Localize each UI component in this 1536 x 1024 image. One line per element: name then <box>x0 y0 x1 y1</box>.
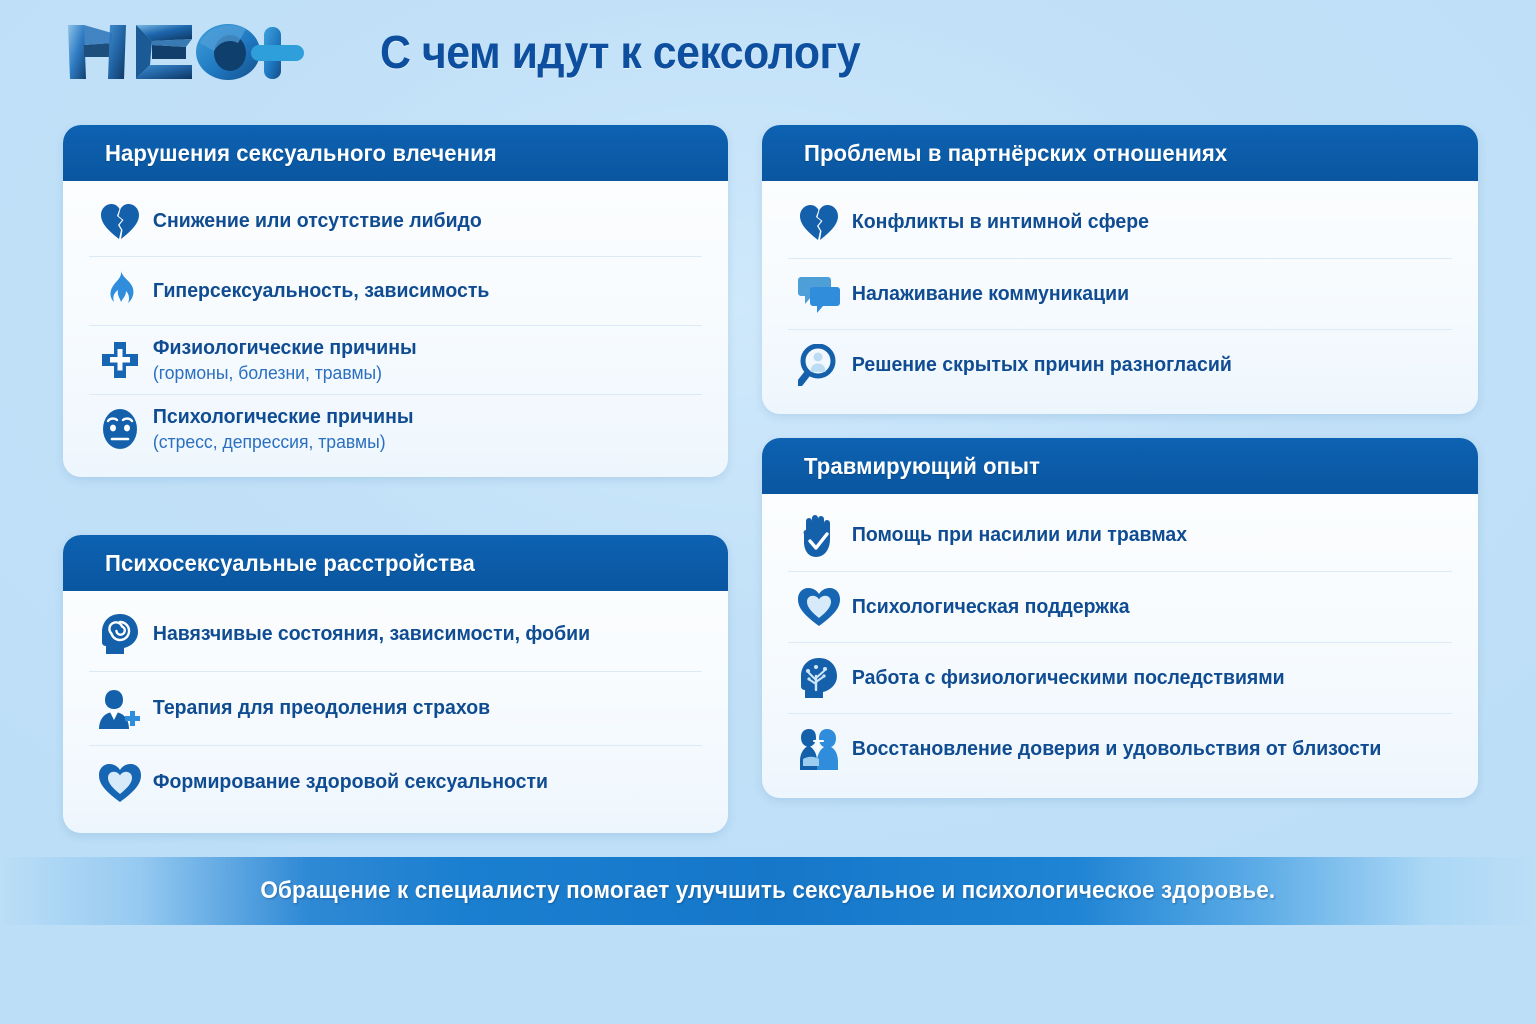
card-desire-body: Снижение или отсутствие либидо Гиперсекс… <box>63 181 728 477</box>
list-item[interactable]: Конфликты в интимной сфере <box>788 187 1452 258</box>
card-partnership-header: Проблемы в партнёрских отношениях <box>762 125 1478 181</box>
broken-heart-icon <box>89 196 151 248</box>
list-item[interactable]: Налаживание коммуникации <box>788 258 1452 329</box>
list-item-label: Работа с физиологическими последствиями <box>850 666 1285 690</box>
list-item-label: Помощь при насилии или травмах <box>850 523 1187 547</box>
list-item-label: Психологическая поддержка <box>850 595 1130 619</box>
list-item-text: Налаживание коммуникации <box>852 282 1129 305</box>
card-psychosexual-body: Навязчивые состояния, зависимости, фобии… <box>63 591 728 833</box>
footer-banner: Обращение к специалисту помогает улучшит… <box>0 857 1536 925</box>
list-item[interactable]: Восстановление доверия и удовольствия от… <box>788 713 1452 784</box>
sad-face-icon <box>89 403 151 455</box>
list-item-text: Навязчивые состояния, зависимости, фобии <box>153 622 590 645</box>
card-psychosexual-title: Психосексуальные расстройства <box>105 550 475 577</box>
brand-logo <box>60 16 320 88</box>
list-item[interactable]: Работа с физиологическими последствиями <box>788 642 1452 713</box>
list-item[interactable]: Снижение или отсутствие либидо <box>89 187 702 256</box>
open-hand-icon <box>788 510 850 562</box>
list-item-subtext: (стресс, депрессия, травмы) <box>153 431 414 453</box>
neo-plus-logo-icon <box>60 17 310 87</box>
list-item-label: Гиперсексуальность, зависимость <box>151 279 489 303</box>
list-item-label: Налаживание коммуникации <box>850 282 1129 306</box>
list-item-label: Физиологические причины (гормоны, болезн… <box>151 336 417 384</box>
card-trauma-body: Помощь при насилии или травмах Психологи… <box>762 494 1478 798</box>
list-item[interactable]: Психологические причины (стресс, депресс… <box>89 394 702 463</box>
list-item-label: Конфликты в интимной сфере <box>850 210 1149 234</box>
heart-icon <box>788 581 850 633</box>
card-trauma: Травмирующий опыт Помощь при насилии или… <box>762 438 1478 798</box>
list-item-text: Формирование здоровой сексуальности <box>153 770 548 793</box>
person-plus-icon <box>89 683 151 735</box>
list-item-label: Восстановление доверия и удовольствия от… <box>850 737 1381 761</box>
list-item-label: Навязчивые состояния, зависимости, фобии <box>151 622 590 646</box>
page-title: С чем идут к сексологу <box>380 25 1031 79</box>
list-item-text: Решение скрытых причин разногласий <box>852 353 1232 376</box>
footer-message: Обращение к специалисту помогает улучшит… <box>261 877 1276 905</box>
head-spiral-icon <box>89 608 151 660</box>
card-partnership-body: Конфликты в интимной сфере Налаживание к… <box>762 181 1478 414</box>
list-item[interactable]: Гиперсексуальность, зависимость <box>89 256 702 325</box>
list-item-label: Психологические причины (стресс, депресс… <box>151 405 414 453</box>
card-trauma-header: Травмирующий опыт <box>762 438 1478 494</box>
list-item-text: Психологические причины <box>153 405 414 428</box>
list-item-label: Терапия для преодоления страхов <box>151 696 490 720</box>
card-partnership: Проблемы в партнёрских отношениях Конфли… <box>762 125 1478 414</box>
list-item[interactable]: Решение скрытых причин разногласий <box>788 329 1452 400</box>
card-partnership-title: Проблемы в партнёрских отношениях <box>804 140 1227 167</box>
list-item-subtext: (гормоны, болезни, травмы) <box>153 362 417 384</box>
list-item-label: Формирование здоровой сексуальности <box>151 770 548 794</box>
couple-icon <box>788 723 850 775</box>
medical-cross-icon <box>89 334 151 386</box>
list-item-label: Решение скрытых причин разногласий <box>850 353 1232 377</box>
list-item[interactable]: Физиологические причины (гормоны, болезн… <box>89 325 702 394</box>
card-desire-title: Нарушения сексуального влечения <box>105 140 497 167</box>
broken-heart-icon <box>788 197 850 249</box>
flame-icon <box>89 265 151 317</box>
head-tree-icon <box>788 652 850 704</box>
list-item-text: Физиологические причины <box>153 336 417 359</box>
page-header: С чем идут к сексологу <box>0 0 1536 112</box>
list-item-text: Работа с физиологическими последствиями <box>852 666 1285 689</box>
card-psychosexual: Психосексуальные расстройства Навязчивые… <box>63 535 728 833</box>
list-item-text: Гиперсексуальность, зависимость <box>153 279 489 302</box>
list-item[interactable]: Помощь при насилии или травмах <box>788 500 1452 571</box>
card-trauma-title: Травмирующий опыт <box>804 453 1040 480</box>
list-item[interactable]: Навязчивые состояния, зависимости, фобии <box>89 597 702 671</box>
list-item-text: Конфликты в интимной сфере <box>852 210 1149 233</box>
list-item-text: Восстановление доверия и удовольствия от… <box>852 737 1381 760</box>
heart-icon <box>89 757 151 809</box>
list-item[interactable]: Терапия для преодоления страхов <box>89 671 702 745</box>
card-desire: Нарушения сексуального влечения Снижение… <box>63 125 728 477</box>
list-item-text: Помощь при насилии или травмах <box>852 523 1187 546</box>
list-item-label: Снижение или отсутствие либидо <box>151 209 482 233</box>
list-item-text: Терапия для преодоления страхов <box>153 696 490 719</box>
speech-bubbles-icon <box>788 268 850 320</box>
card-desire-header: Нарушения сексуального влечения <box>63 125 728 181</box>
list-item-text: Психологическая поддержка <box>852 595 1130 618</box>
list-item[interactable]: Формирование здоровой сексуальности <box>89 745 702 819</box>
magnifier-person-icon <box>788 339 850 391</box>
card-psychosexual-header: Психосексуальные расстройства <box>63 535 728 591</box>
list-item-text: Снижение или отсутствие либидо <box>153 209 482 232</box>
list-item[interactable]: Психологическая поддержка <box>788 571 1452 642</box>
